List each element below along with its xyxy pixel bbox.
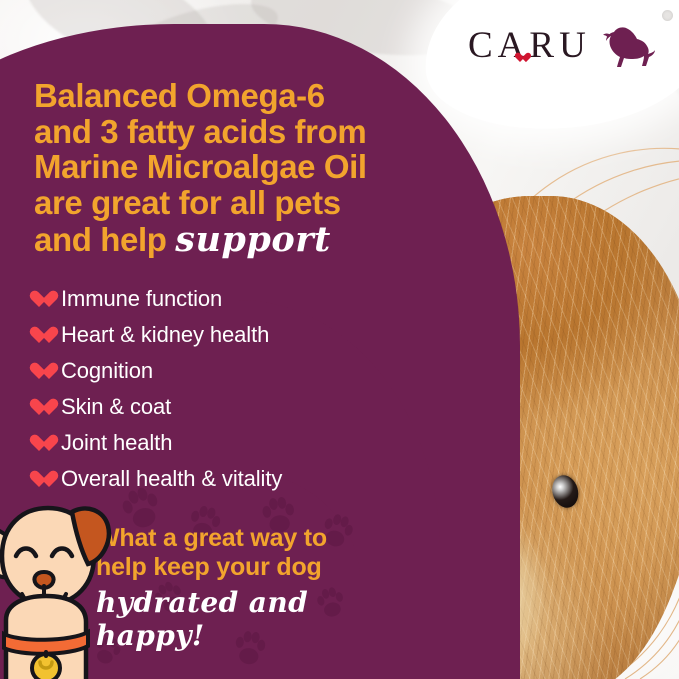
closing-copy: What a great way to help keep your dog h…: [96, 524, 426, 652]
headline: Balanced Omega-6 and 3 fatty acids from …: [34, 78, 444, 258]
benefit-label: Joint health: [61, 430, 172, 456]
headline-script-word: support: [175, 219, 331, 260]
list-item: Immune function: [30, 281, 430, 317]
promo-graphic: Balanced Omega-6 and 3 fatty acids from …: [0, 0, 679, 679]
heart-icon: [30, 399, 49, 416]
logo-wordmark: CARU: [468, 24, 591, 67]
benefits-list: Immune function Heart & kidney health Co…: [30, 281, 430, 497]
list-item: Heart & kidney health: [30, 317, 430, 353]
headline-line-4: are great for all pets: [34, 185, 444, 221]
headline-line-5-prefix: and help: [34, 221, 175, 258]
list-item: Joint health: [30, 425, 430, 461]
corner-dot: [662, 10, 673, 21]
list-item: Cognition: [30, 353, 430, 389]
benefit-label: Immune function: [61, 286, 222, 312]
heart-icon: [30, 291, 49, 308]
caru-logo[interactable]: CARU: [468, 22, 658, 74]
list-item: Overall health & vitality: [30, 461, 430, 497]
heart-icon: [30, 471, 49, 488]
headline-line-2: and 3 fatty acids from: [34, 114, 444, 150]
closing-script: hydrated and happy!: [96, 586, 426, 652]
heart-icon: [30, 327, 49, 344]
cartoon-dog-illustration: [0, 500, 140, 679]
dog-silhouette-icon: [594, 26, 656, 70]
benefit-label: Skin & coat: [61, 394, 171, 420]
headline-line-5: and help support: [34, 221, 444, 259]
heart-icon: [30, 435, 49, 452]
closing-line-1: What a great way to: [96, 524, 426, 553]
benefit-label: Overall health & vitality: [61, 466, 282, 492]
benefit-label: Heart & kidney health: [61, 322, 269, 348]
headline-line-3: Marine Microalgae Oil: [34, 149, 444, 185]
closing-line-2: help keep your dog: [96, 553, 426, 582]
heart-icon: [515, 53, 526, 63]
benefit-label: Cognition: [61, 358, 153, 384]
list-item: Skin & coat: [30, 389, 430, 425]
headline-line-1: Balanced Omega-6: [34, 78, 444, 114]
heart-icon: [30, 363, 49, 380]
